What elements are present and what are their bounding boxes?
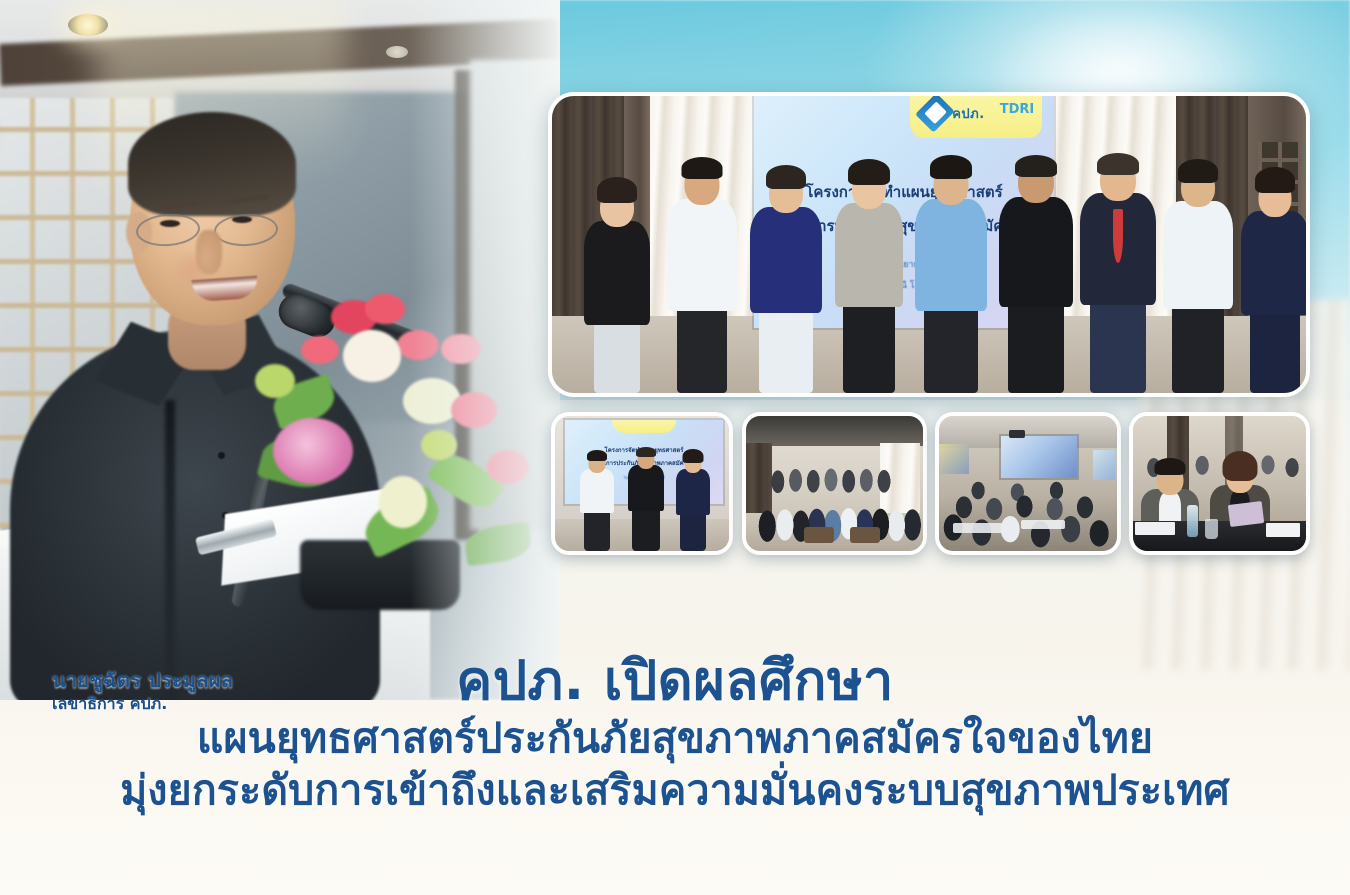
speaker-portrait-photo — [0, 0, 560, 700]
notebook-icon — [1228, 501, 1264, 527]
group-person — [1076, 145, 1160, 393]
thumbnail-photo-2 — [742, 412, 927, 555]
headline-line-2: แผนยุทธศาสตร์ประกันภัยสุขภาพภาคสมัครใจขอ… — [0, 712, 1350, 764]
group-person — [746, 161, 826, 393]
group-person — [830, 155, 908, 393]
group-person — [662, 147, 742, 393]
drinking-glass-icon — [1205, 519, 1218, 539]
headline-line-1: คปภ. เปิดผลศึกษา — [0, 650, 1350, 712]
thumb-three-speakers-content: โครงการจัดทำแผนยุทธศาสตร์ ด้านการประกันภ… — [555, 416, 729, 551]
screen-logo-badge — [612, 420, 675, 433]
flower-arrangement — [255, 290, 555, 590]
thumb-person — [673, 457, 713, 551]
headline-line-3: มุ่งยกระดับการเข้าถึงและเสริมความมั่นคงร… — [0, 764, 1350, 816]
oic-logo-text: คปภ. — [952, 103, 984, 124]
poster-canvas: คปภ. TDRI โครงการจัดทำแผนยุทธศาสตร์ ด้าน… — [0, 0, 1350, 895]
thumb-seminar-room-content — [939, 416, 1117, 551]
thumb-large-group-content — [746, 416, 923, 551]
back-row-people — [746, 457, 923, 503]
name-card — [1135, 522, 1175, 535]
tdri-logo-text: TDRI — [1000, 102, 1035, 117]
speaker-nose — [196, 230, 222, 274]
group-photo-main: คปภ. TDRI โครงการจัดทำแผนยุทธศาสตร์ ด้าน… — [548, 92, 1310, 397]
headline-block: คปภ. เปิดผลศึกษา แผนยุทธศาสตร์ประกันภัยส… — [0, 650, 1350, 816]
room-ceiling — [746, 416, 923, 446]
side-table — [850, 527, 880, 543]
thumbnail-photo-1: โครงการจัดทำแผนยุทธศาสตร์ ด้านการประกันภ… — [551, 412, 733, 555]
thumb-person — [577, 455, 617, 551]
group-person — [1158, 153, 1238, 393]
group-person — [580, 173, 654, 393]
thumbnail-photo-3 — [935, 412, 1121, 555]
speaker-hair — [128, 112, 296, 216]
portrait-right-panel — [470, 60, 560, 530]
ceiling-light-secondary-icon — [386, 46, 408, 58]
group-person — [910, 149, 992, 393]
table-paper — [953, 523, 1005, 533]
thumbnail-photo-4 — [1129, 412, 1310, 555]
shirt-button-icon — [218, 452, 225, 459]
audience-seating — [939, 467, 1117, 551]
portrait-dark-frame — [455, 70, 479, 540]
ceiling-light-icon — [68, 14, 108, 36]
group-person — [1236, 165, 1306, 393]
thumb-audience-table-content — [1133, 416, 1306, 551]
side-table — [804, 527, 834, 543]
water-bottle-icon — [1187, 505, 1198, 537]
projector-icon — [1009, 430, 1025, 438]
thumb-person — [625, 451, 667, 551]
name-card — [1266, 523, 1300, 537]
table-paper — [1021, 520, 1065, 529]
screen-logo-badge: คปภ. TDRI — [910, 96, 1042, 138]
group-photo-main-content: คปภ. TDRI โครงการจัดทำแผนยุทธศาสตร์ ด้าน… — [552, 96, 1306, 393]
oic-logo-icon — [915, 96, 955, 132]
group-person — [994, 147, 1078, 393]
